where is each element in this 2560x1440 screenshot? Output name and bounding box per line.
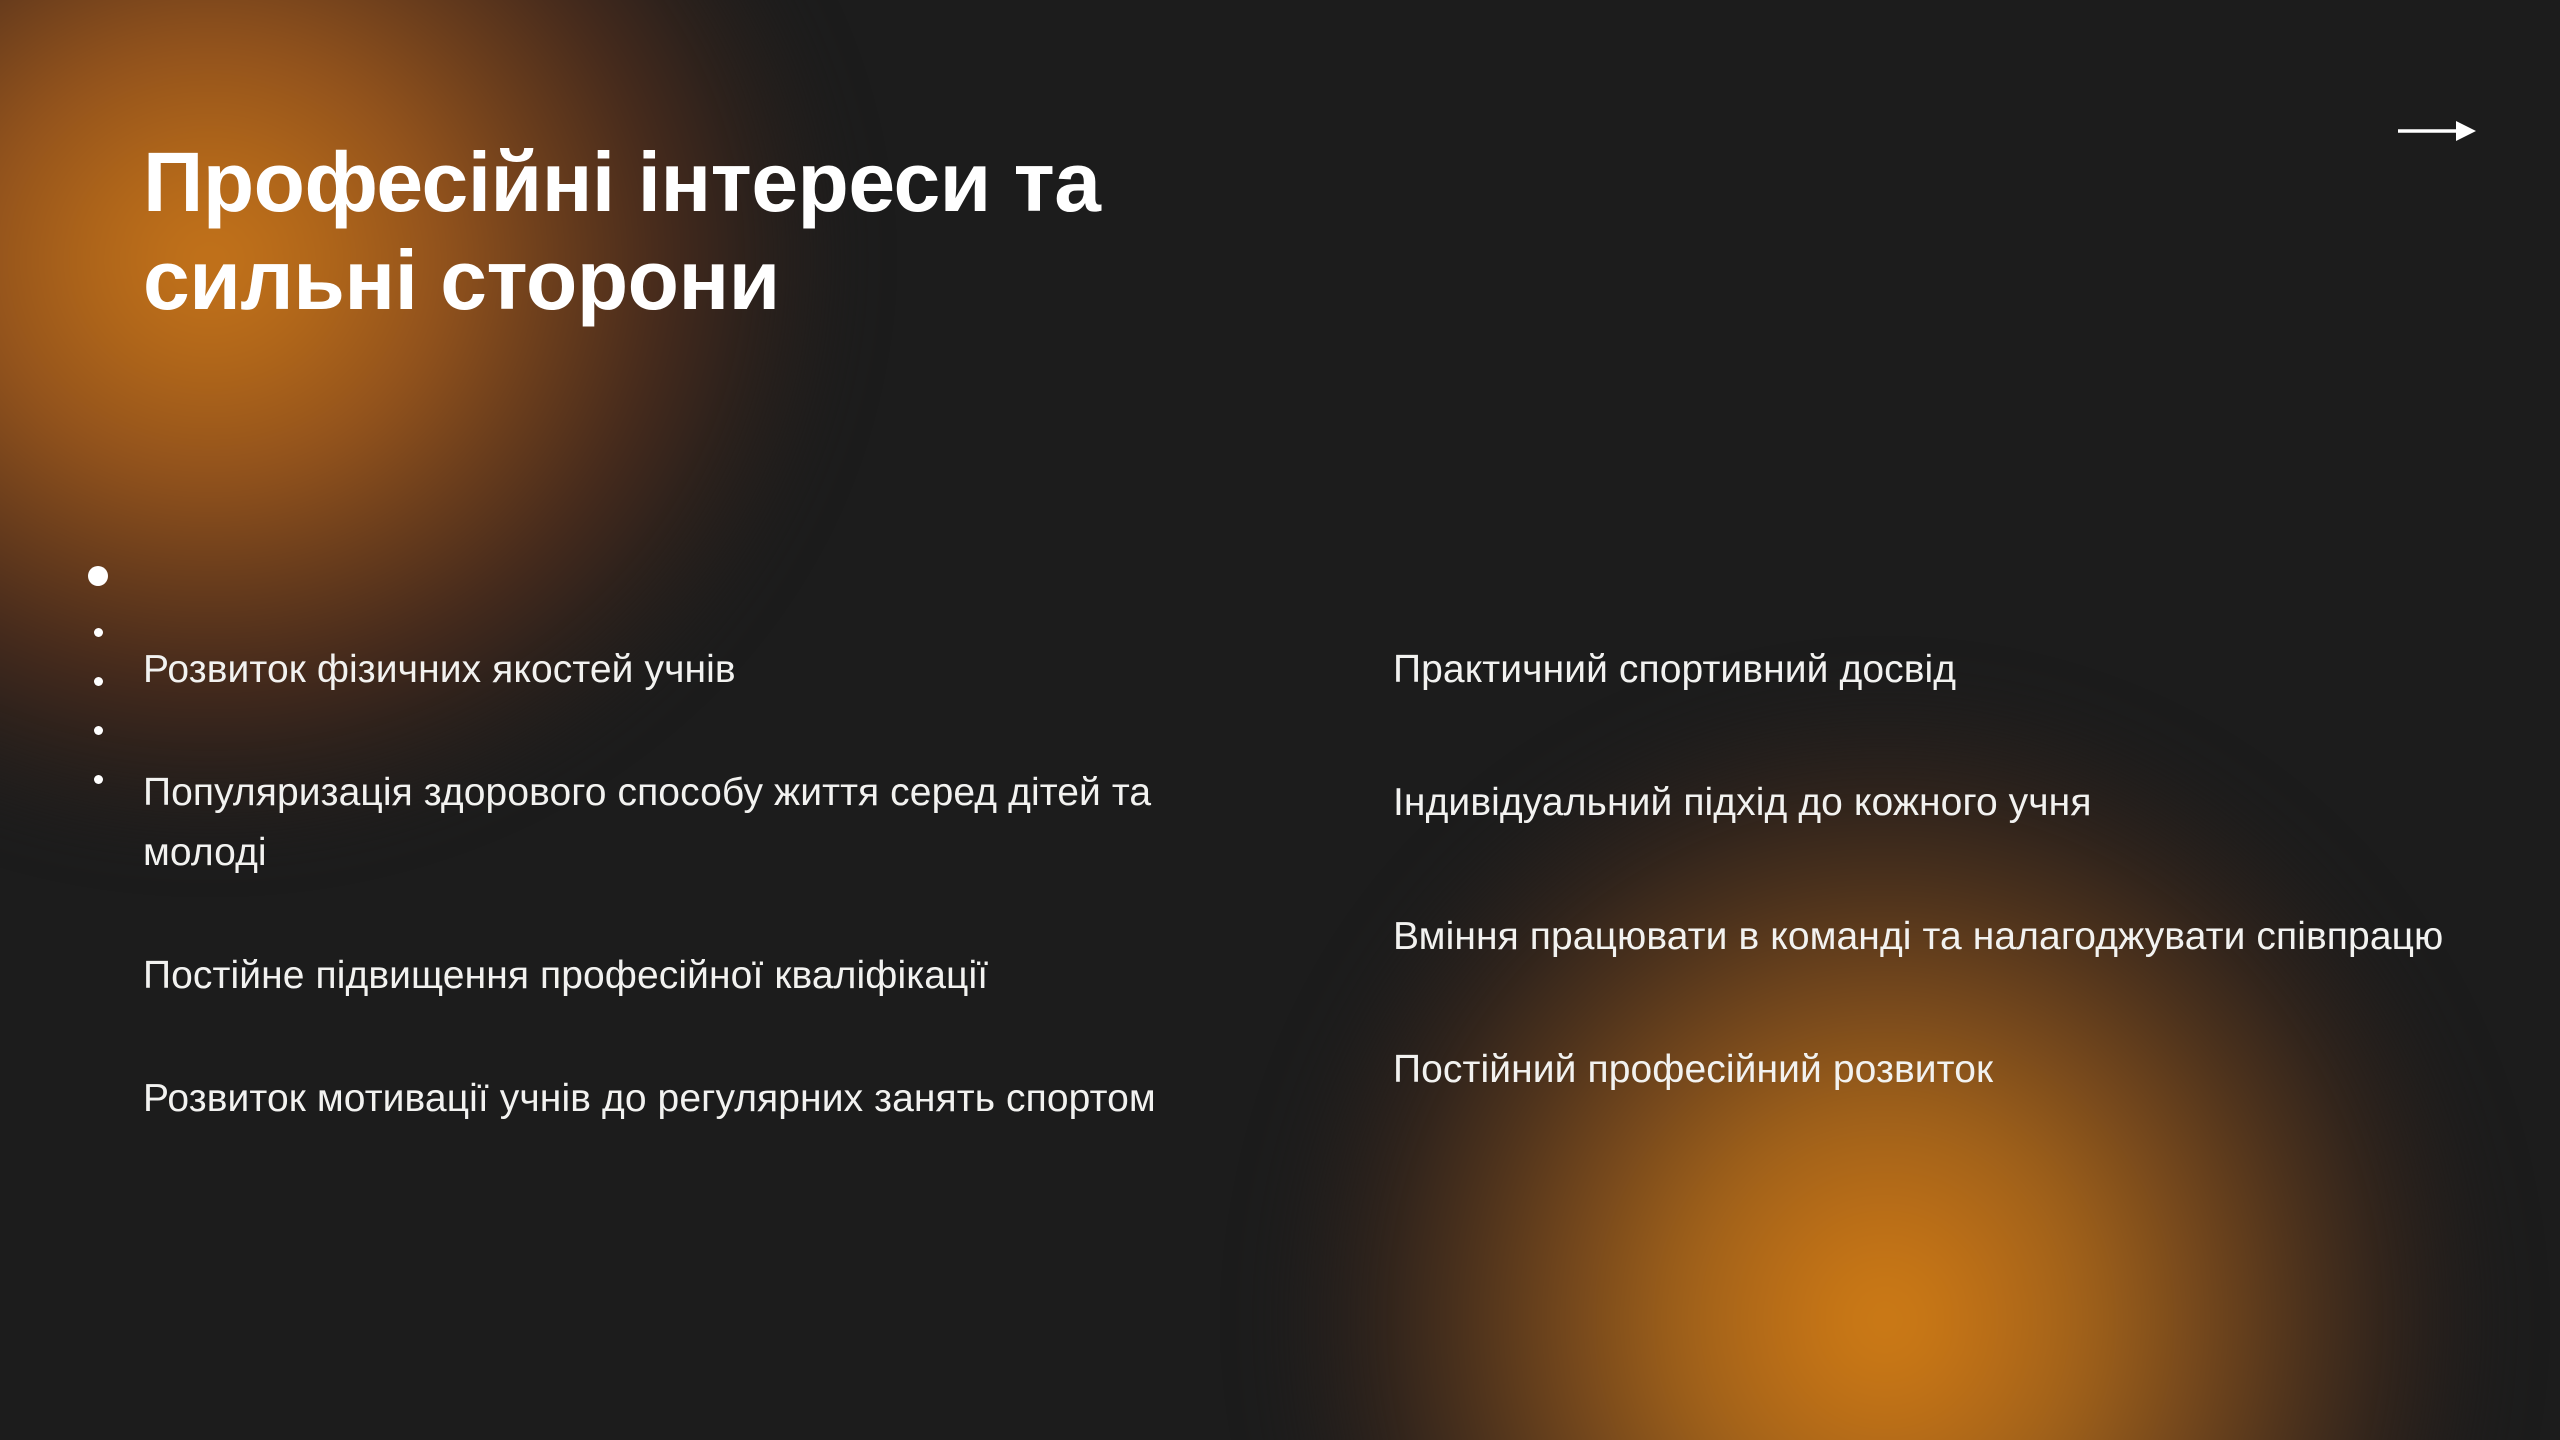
bullet-column-left: Розвиток фізичних якостей учнів Популяри… — [143, 640, 1243, 1128]
bullet-item: Постійний професійний розвиток — [1393, 1040, 2453, 1099]
presentation-slide: Професійні інтереси та сильні сторони Ро… — [0, 0, 2560, 1440]
bullet-item: Постійне підвищення професійної кваліфік… — [143, 946, 1243, 1005]
arrow-right-icon[interactable] — [2396, 118, 2478, 144]
bullet-column-right: Практичний спортивний досвід Індивідуаль… — [1393, 640, 2453, 1173]
slide-title: Професійні інтереси та сильні сторони — [143, 133, 1293, 330]
bullet-item: Вміння працювати в команді та налагоджув… — [1393, 907, 2453, 966]
rail-dot — [94, 726, 103, 735]
rail-dot — [88, 566, 108, 586]
bullet-item: Розвиток мотивації учнів до регулярних з… — [143, 1069, 1243, 1128]
bullet-item: Популяризація здорового способу життя се… — [143, 763, 1243, 882]
decorative-dot-rail — [86, 566, 110, 784]
rail-dot — [94, 677, 103, 686]
rail-dot — [94, 628, 103, 637]
bullet-item: Практичний спортивний досвід — [1393, 640, 2453, 699]
bullet-item: Розвиток фізичних якостей учнів — [143, 640, 1243, 699]
bullet-item: Індивідуальний підхід до кожного учня — [1393, 773, 2453, 832]
slide-content: Професійні інтереси та сильні сторони Ро… — [0, 0, 2560, 1440]
rail-dot — [94, 775, 103, 784]
